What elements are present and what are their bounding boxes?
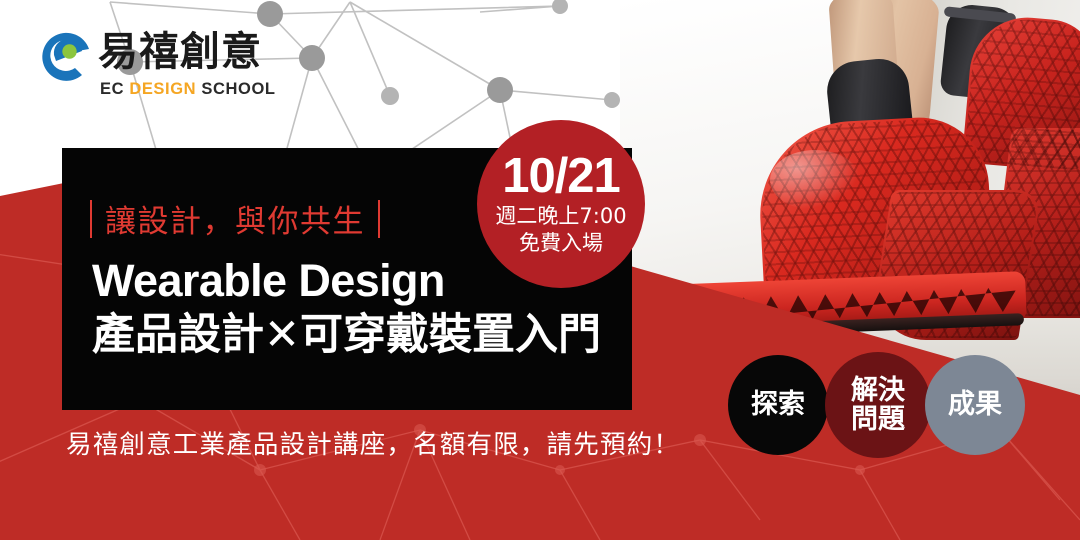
logo-en-suffix: SCHOOL [201,80,275,98]
keyword-solve-line1: 解決 [851,376,905,405]
tagline: 易禧創意工業產品設計講座，名額有限，請先預約！ [66,424,680,461]
kicker-text: 讓設計，與你共生 [105,196,365,241]
keyword-solve-line2: 問題 [851,405,905,434]
event-promotion-banner: 易禧創意 EC DESIGN SCHOOL 讓設計，與你共生 Wearable … [0,0,1080,540]
ec-e-swoosh-logo-icon [38,30,94,86]
brand-logo[interactable]: 易禧創意 EC DESIGN SCHOOL [38,28,253,106]
date-badge-time: 週二晚上7:00 [495,203,626,230]
logo-english-name: EC DESIGN SCHOOL [100,80,276,99]
logo-chinese-name: 易禧創意 [98,28,262,76]
kicker-rule-right [378,200,380,238]
keyword-circle-result: 成果 [925,355,1025,455]
date-badge-date: 10/21 [502,151,620,201]
keyword-circle-solve-problem: 解決 問題 [825,352,931,458]
headline-title-en: Wearable Design [92,255,445,307]
headline-title-cn: 產品設計✕可穿戴裝置入門 [92,308,601,362]
logo-en-prefix: EC [100,80,124,98]
kicker-rule-left [90,200,92,238]
date-badge: 10/21 週二晚上7:00 免費入場 [477,120,645,288]
headline-kicker: 讓設計，與你共生 [90,196,380,241]
keyword-circle-explore: 探索 [728,355,828,455]
logo-en-accent: DESIGN [129,80,196,98]
date-badge-admission: 免費入場 [519,230,603,257]
